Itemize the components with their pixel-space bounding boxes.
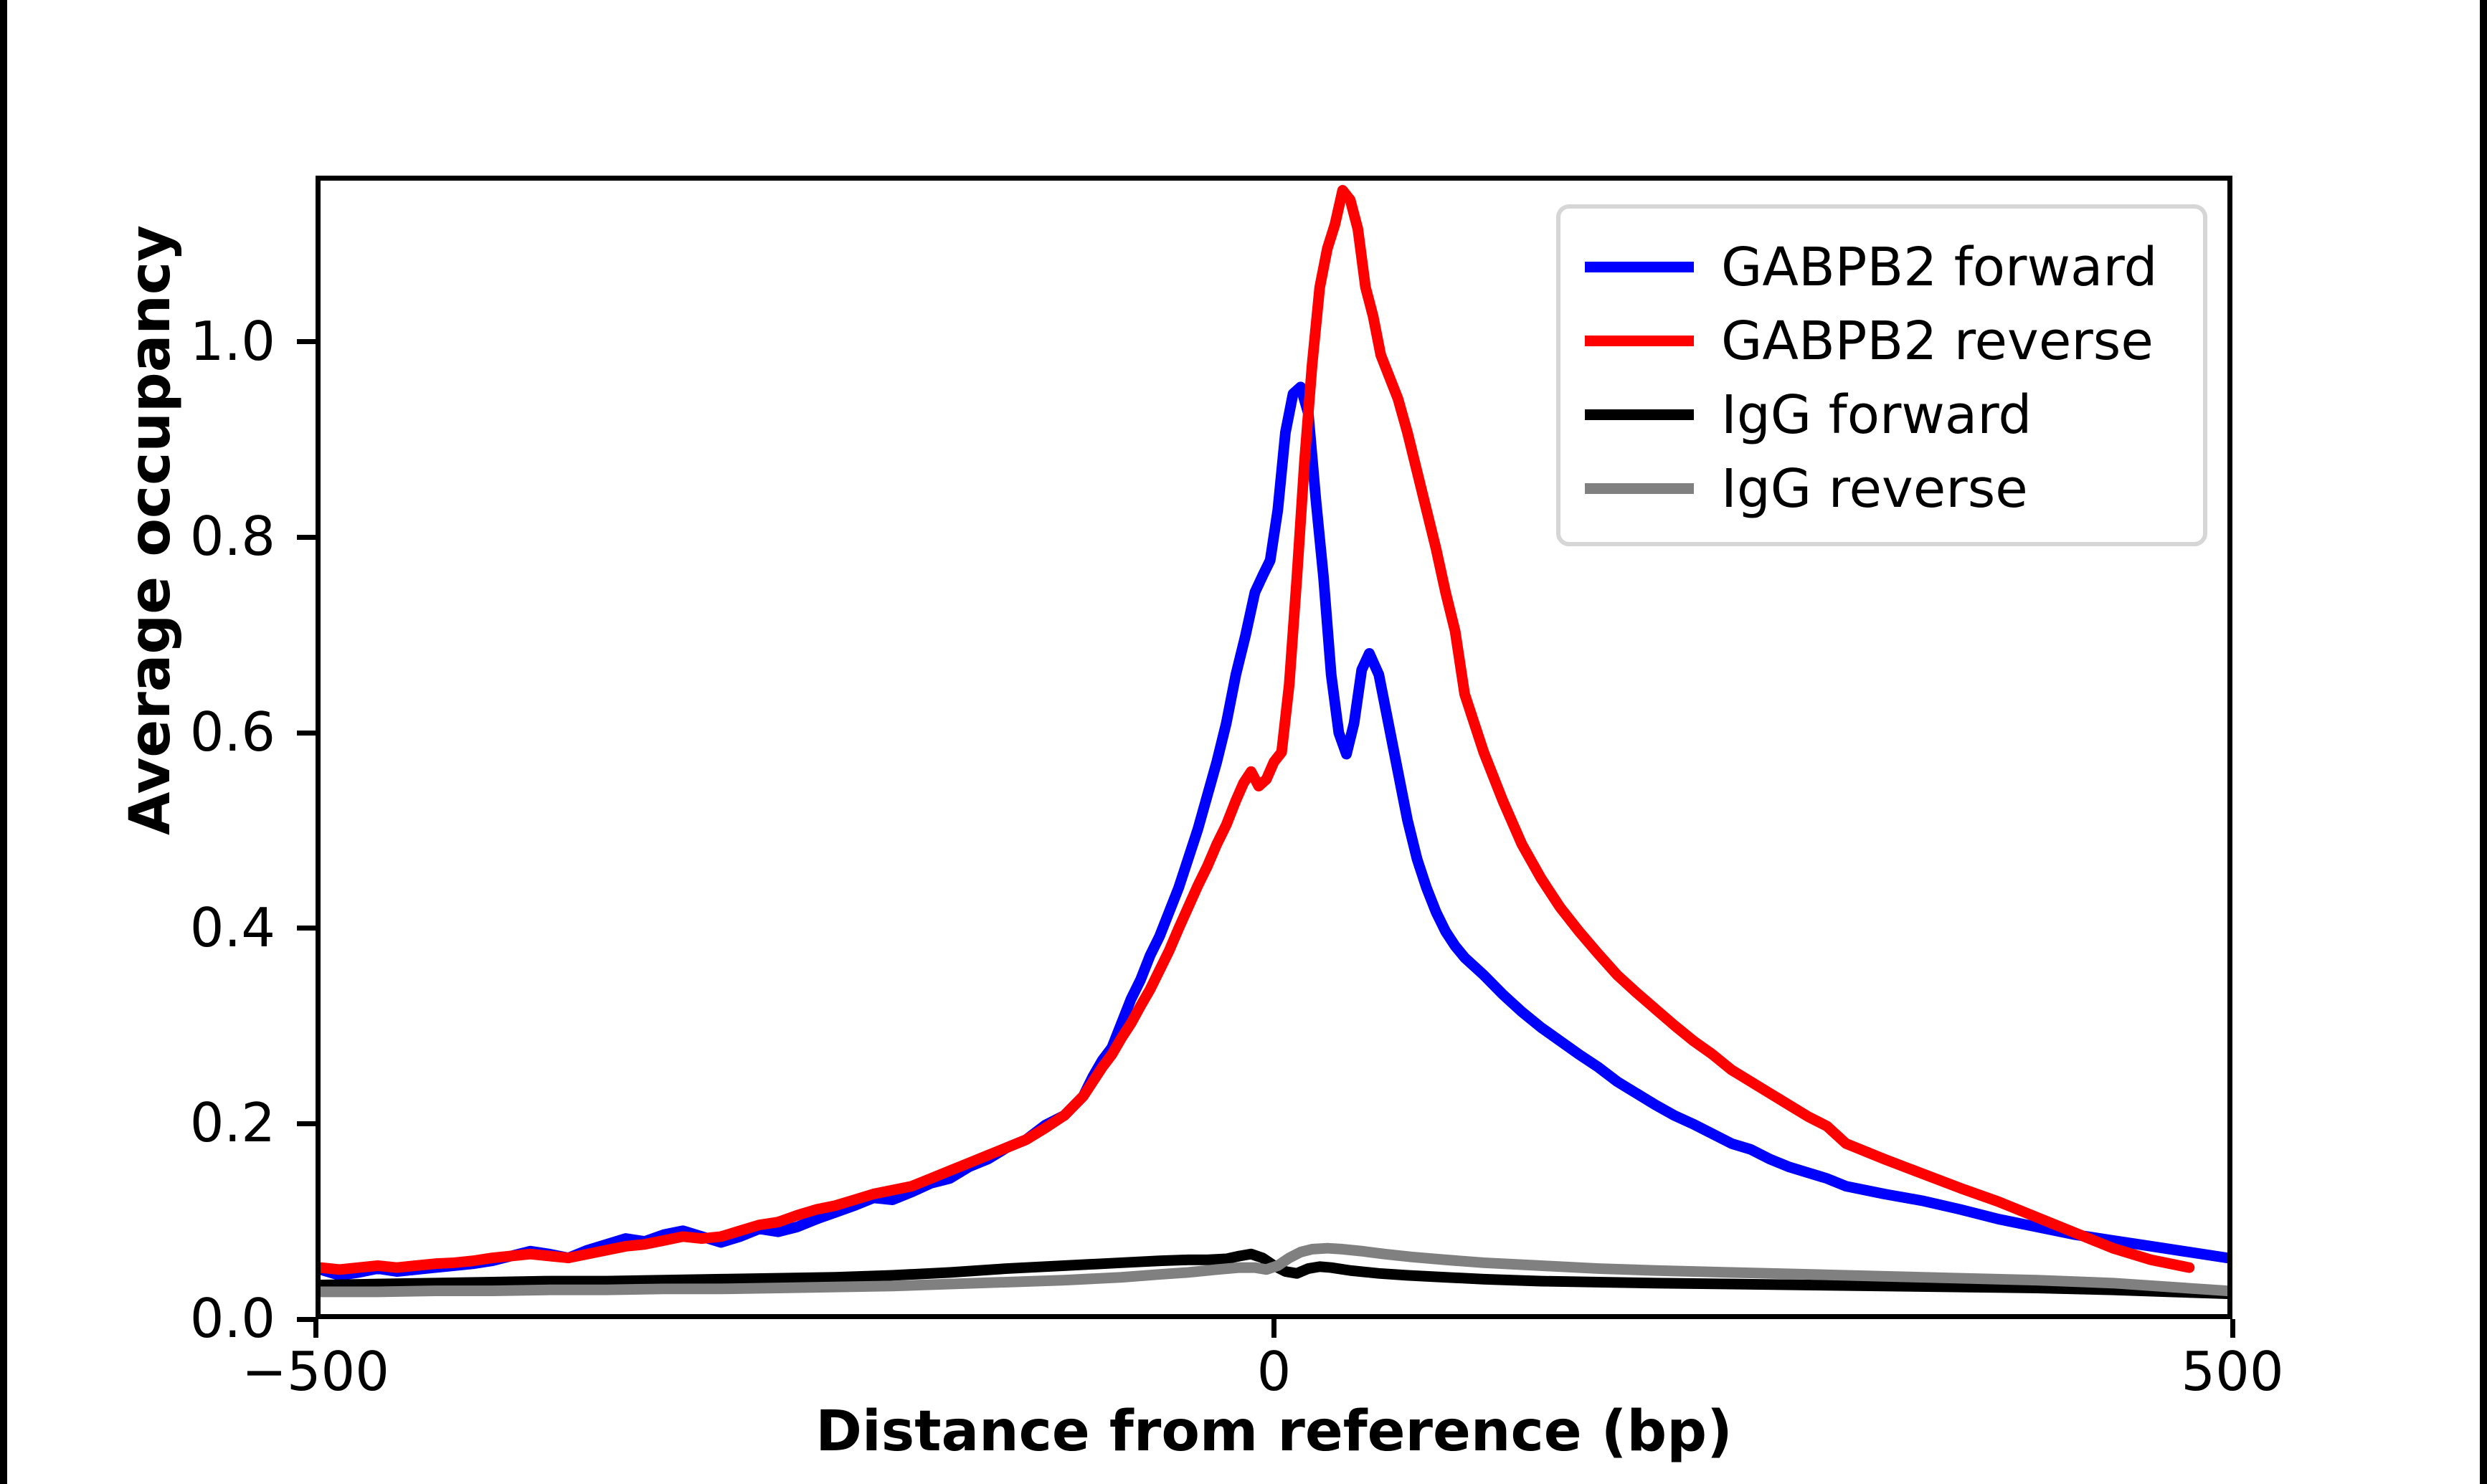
y-tick-label: 0.8	[118, 510, 275, 563]
x-tick-mark	[2230, 1319, 2235, 1338]
y-tick-label: 0.6	[118, 705, 275, 759]
legend-swatch-igg-forward	[1585, 409, 1694, 420]
legend-swatch-gabpb2-forward	[1585, 262, 1694, 272]
right-border-band	[2480, 0, 2487, 1484]
x-tick-mark	[313, 1319, 318, 1338]
legend-item: GABPB2 forward	[1585, 230, 2179, 304]
left-border-band	[0, 0, 7, 1484]
x-axis-label: Distance from reference (bp)	[316, 1399, 2232, 1464]
figure: Average occupancy 0.00.20.40.60.81.0 −50…	[7, 0, 2480, 1484]
chart-canvas: Average occupancy 0.00.20.40.60.81.0 −50…	[0, 0, 2487, 1484]
y-tick-mark	[297, 731, 316, 736]
legend-label: IgG forward	[1721, 389, 2032, 442]
y-tick-label: 0.0	[118, 1292, 275, 1346]
x-tick-mark	[1271, 1319, 1276, 1338]
x-tick-label: 500	[2089, 1345, 2376, 1399]
legend-swatch-gabpb2-reverse	[1585, 336, 1694, 346]
y-axis-label: Average occupancy	[118, 333, 183, 835]
y-tick-mark	[297, 926, 316, 931]
y-tick-mark	[297, 535, 316, 540]
y-tick-label: 0.4	[118, 901, 275, 955]
legend-item: GABPB2 reverse	[1585, 304, 2179, 378]
legend-label: IgG reverse	[1721, 462, 2028, 515]
legend-swatch-igg-reverse	[1585, 483, 1694, 494]
y-tick-label: 0.2	[118, 1096, 275, 1150]
legend: GABPB2 forward GABPB2 reverse IgG forwar…	[1556, 204, 2207, 546]
y-tick-mark	[297, 1121, 316, 1126]
y-tick-label: 1.0	[118, 315, 275, 368]
x-tick-label: −500	[172, 1345, 459, 1399]
y-tick-mark	[297, 339, 316, 344]
x-tick-label: 0	[1131, 1345, 1418, 1399]
legend-item: IgG forward	[1585, 378, 2179, 452]
legend-label: GABPB2 forward	[1721, 241, 2157, 294]
legend-label: GABPB2 reverse	[1721, 315, 2154, 368]
legend-item: IgG reverse	[1585, 452, 2179, 525]
